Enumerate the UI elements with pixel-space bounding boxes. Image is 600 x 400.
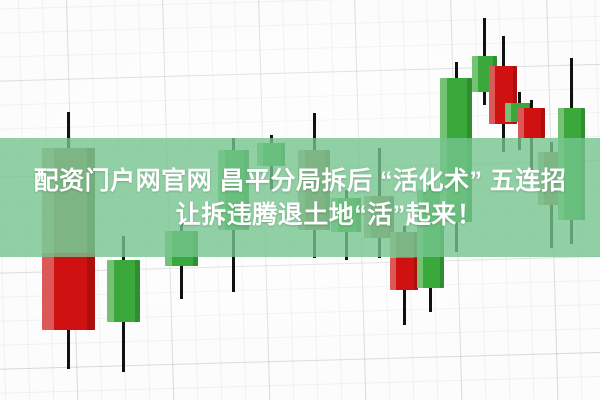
candle-body [107, 260, 140, 322]
headline-band [0, 138, 600, 257]
headline-line-1: 配资门户网官网 昌平分局拆后 “活化术” 五连招 [0, 166, 600, 196]
candlestick-banner: 配资门户网官网 昌平分局拆后 “活化术” 五连招 让拆违腾退土地“活”起来！ [0, 0, 600, 400]
headline-line-2: 让拆违腾退土地“活”起来！ [0, 200, 600, 230]
